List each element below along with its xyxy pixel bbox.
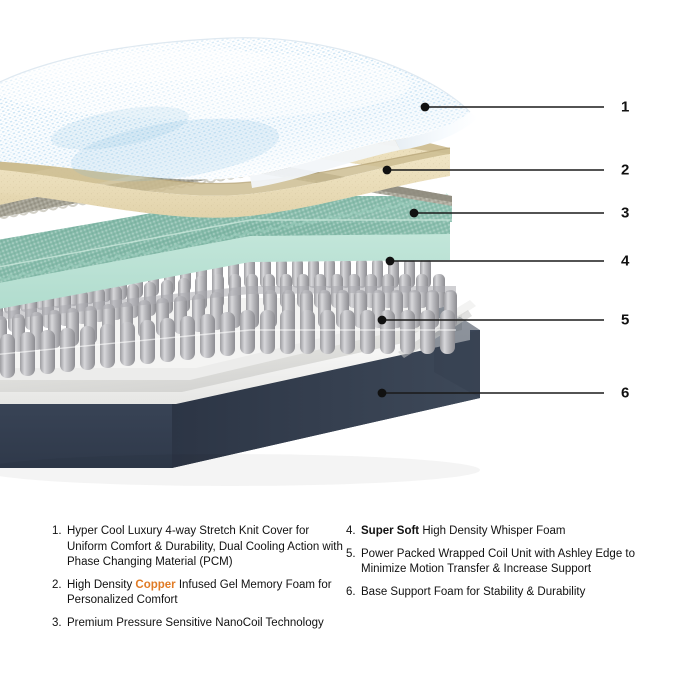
legend-text-1: Hyper Cool Luxury 4-way Stretch Knit Cov… bbox=[67, 524, 352, 571]
legend-text-5: Power Packed Wrapped Coil Unit with Ashl… bbox=[361, 547, 656, 578]
legend-text-3: Premium Pressure Sensitive NanoCoil Tech… bbox=[67, 616, 352, 632]
mattress-construction-diagram-page: 1 2 3 4 5 6 1. Hyper Cool Luxury 4-way S… bbox=[0, 0, 700, 700]
legend-item-5: 5. Power Packed Wrapped Coil Unit with A… bbox=[346, 547, 656, 578]
legend-column-right: 4. Super Soft High Density Whisper Foam … bbox=[346, 524, 656, 607]
exploded-mattress-diagram: 1 2 3 4 5 6 bbox=[0, 0, 700, 510]
callout-number-4: 4 bbox=[621, 254, 629, 269]
legend-item-1: 1. Hyper Cool Luxury 4-way Stretch Knit … bbox=[52, 524, 352, 571]
legend-number-3: 3. bbox=[52, 616, 67, 632]
callout-number-3: 3 bbox=[621, 206, 629, 221]
legend-column-left: 1. Hyper Cool Luxury 4-way Stretch Knit … bbox=[52, 524, 352, 638]
legend-number-6: 6. bbox=[346, 585, 361, 601]
callout-number-6: 6 bbox=[621, 386, 629, 401]
callout-number-1: 1 bbox=[621, 100, 629, 115]
legend-item-3: 3. Premium Pressure Sensitive NanoCoil T… bbox=[52, 616, 352, 632]
callout-number-2: 2 bbox=[621, 163, 629, 178]
legend-item-6: 6. Base Support Foam for Stability & Dur… bbox=[346, 585, 656, 601]
legend: 1. Hyper Cool Luxury 4-way Stretch Knit … bbox=[0, 524, 700, 700]
legend-number-4: 4. bbox=[346, 524, 361, 540]
legend-item-2: 2. High Density Copper Infused Gel Memor… bbox=[52, 578, 352, 609]
legend-number-2: 2. bbox=[52, 578, 67, 594]
legend-text-2: High Density Copper Infused Gel Memory F… bbox=[67, 578, 352, 609]
legend-number-1: 1. bbox=[52, 524, 67, 540]
legend-number-5: 5. bbox=[346, 547, 361, 563]
legend-item-4: 4. Super Soft High Density Whisper Foam bbox=[346, 524, 656, 540]
callout-number-5: 5 bbox=[621, 313, 629, 328]
legend-text-4: Super Soft High Density Whisper Foam bbox=[361, 524, 656, 540]
legend-text-6: Base Support Foam for Stability & Durabi… bbox=[361, 585, 656, 601]
